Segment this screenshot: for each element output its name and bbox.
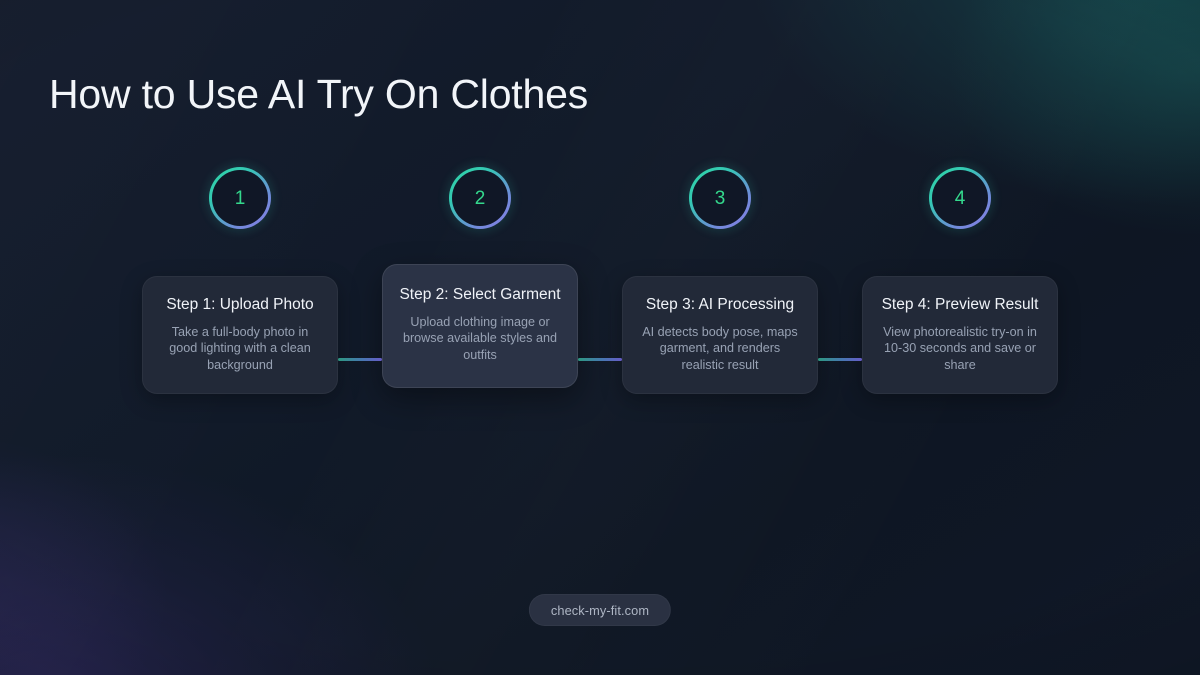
step-circle-ring-4: 4	[929, 167, 991, 229]
step-card-description-4: View photorealistic try-on in 10-30 seco…	[877, 324, 1043, 374]
step-circle-3[interactable]: 3	[682, 160, 758, 236]
step-circle-2[interactable]: 2	[442, 160, 518, 236]
step-number-4: 4	[955, 189, 966, 208]
step-card-2[interactable]: Step 2: Select Garment Upload clothing i…	[382, 264, 578, 388]
step-card-description-1: Take a full-body photo in good lighting …	[157, 324, 323, 374]
steps-row: 1 Step 1: Upload Photo Take a full-body …	[0, 160, 1200, 394]
step-card-3[interactable]: Step 3: AI Processing AI detects body po…	[622, 276, 818, 394]
step-connector-2-3	[578, 358, 622, 361]
slide-canvas: How to Use AI Try On Clothes 1 Step 1: U…	[0, 0, 1200, 675]
step-card-description-3: AI detects body pose, maps garment, and …	[637, 324, 803, 374]
step-card-description-2: Upload clothing image or browse availabl…	[397, 314, 563, 364]
step-card-title-1: Step 1: Upload Photo	[157, 295, 323, 315]
step-number-2: 2	[475, 189, 486, 208]
footer-site-badge[interactable]: check-my-fit.com	[529, 594, 671, 626]
step-circle-ring-1: 1	[209, 167, 271, 229]
step-circle-4[interactable]: 4	[922, 160, 998, 236]
step-card-title-4: Step 4: Preview Result	[877, 295, 1043, 315]
step-item-3[interactable]: 3 Step 3: AI Processing AI detects body …	[622, 160, 818, 394]
step-card-1[interactable]: Step 1: Upload Photo Take a full-body ph…	[142, 276, 338, 394]
page-title: How to Use AI Try On Clothes	[49, 71, 588, 118]
step-number-3: 3	[715, 189, 726, 208]
step-item-1[interactable]: 1 Step 1: Upload Photo Take a full-body …	[142, 160, 338, 394]
step-connector-3-4	[818, 358, 862, 361]
step-connector-1-2	[338, 358, 382, 361]
step-circle-ring-2: 2	[449, 167, 511, 229]
step-item-2[interactable]: 2 Step 2: Select Garment Upload clothing…	[382, 160, 578, 388]
step-item-4[interactable]: 4 Step 4: Preview Result View photoreali…	[862, 160, 1058, 394]
step-circle-ring-3: 3	[689, 167, 751, 229]
step-card-title-2: Step 2: Select Garment	[397, 285, 563, 305]
step-card-4[interactable]: Step 4: Preview Result View photorealist…	[862, 276, 1058, 394]
step-number-1: 1	[235, 189, 246, 208]
step-card-title-3: Step 3: AI Processing	[637, 295, 803, 315]
step-circle-1[interactable]: 1	[202, 160, 278, 236]
